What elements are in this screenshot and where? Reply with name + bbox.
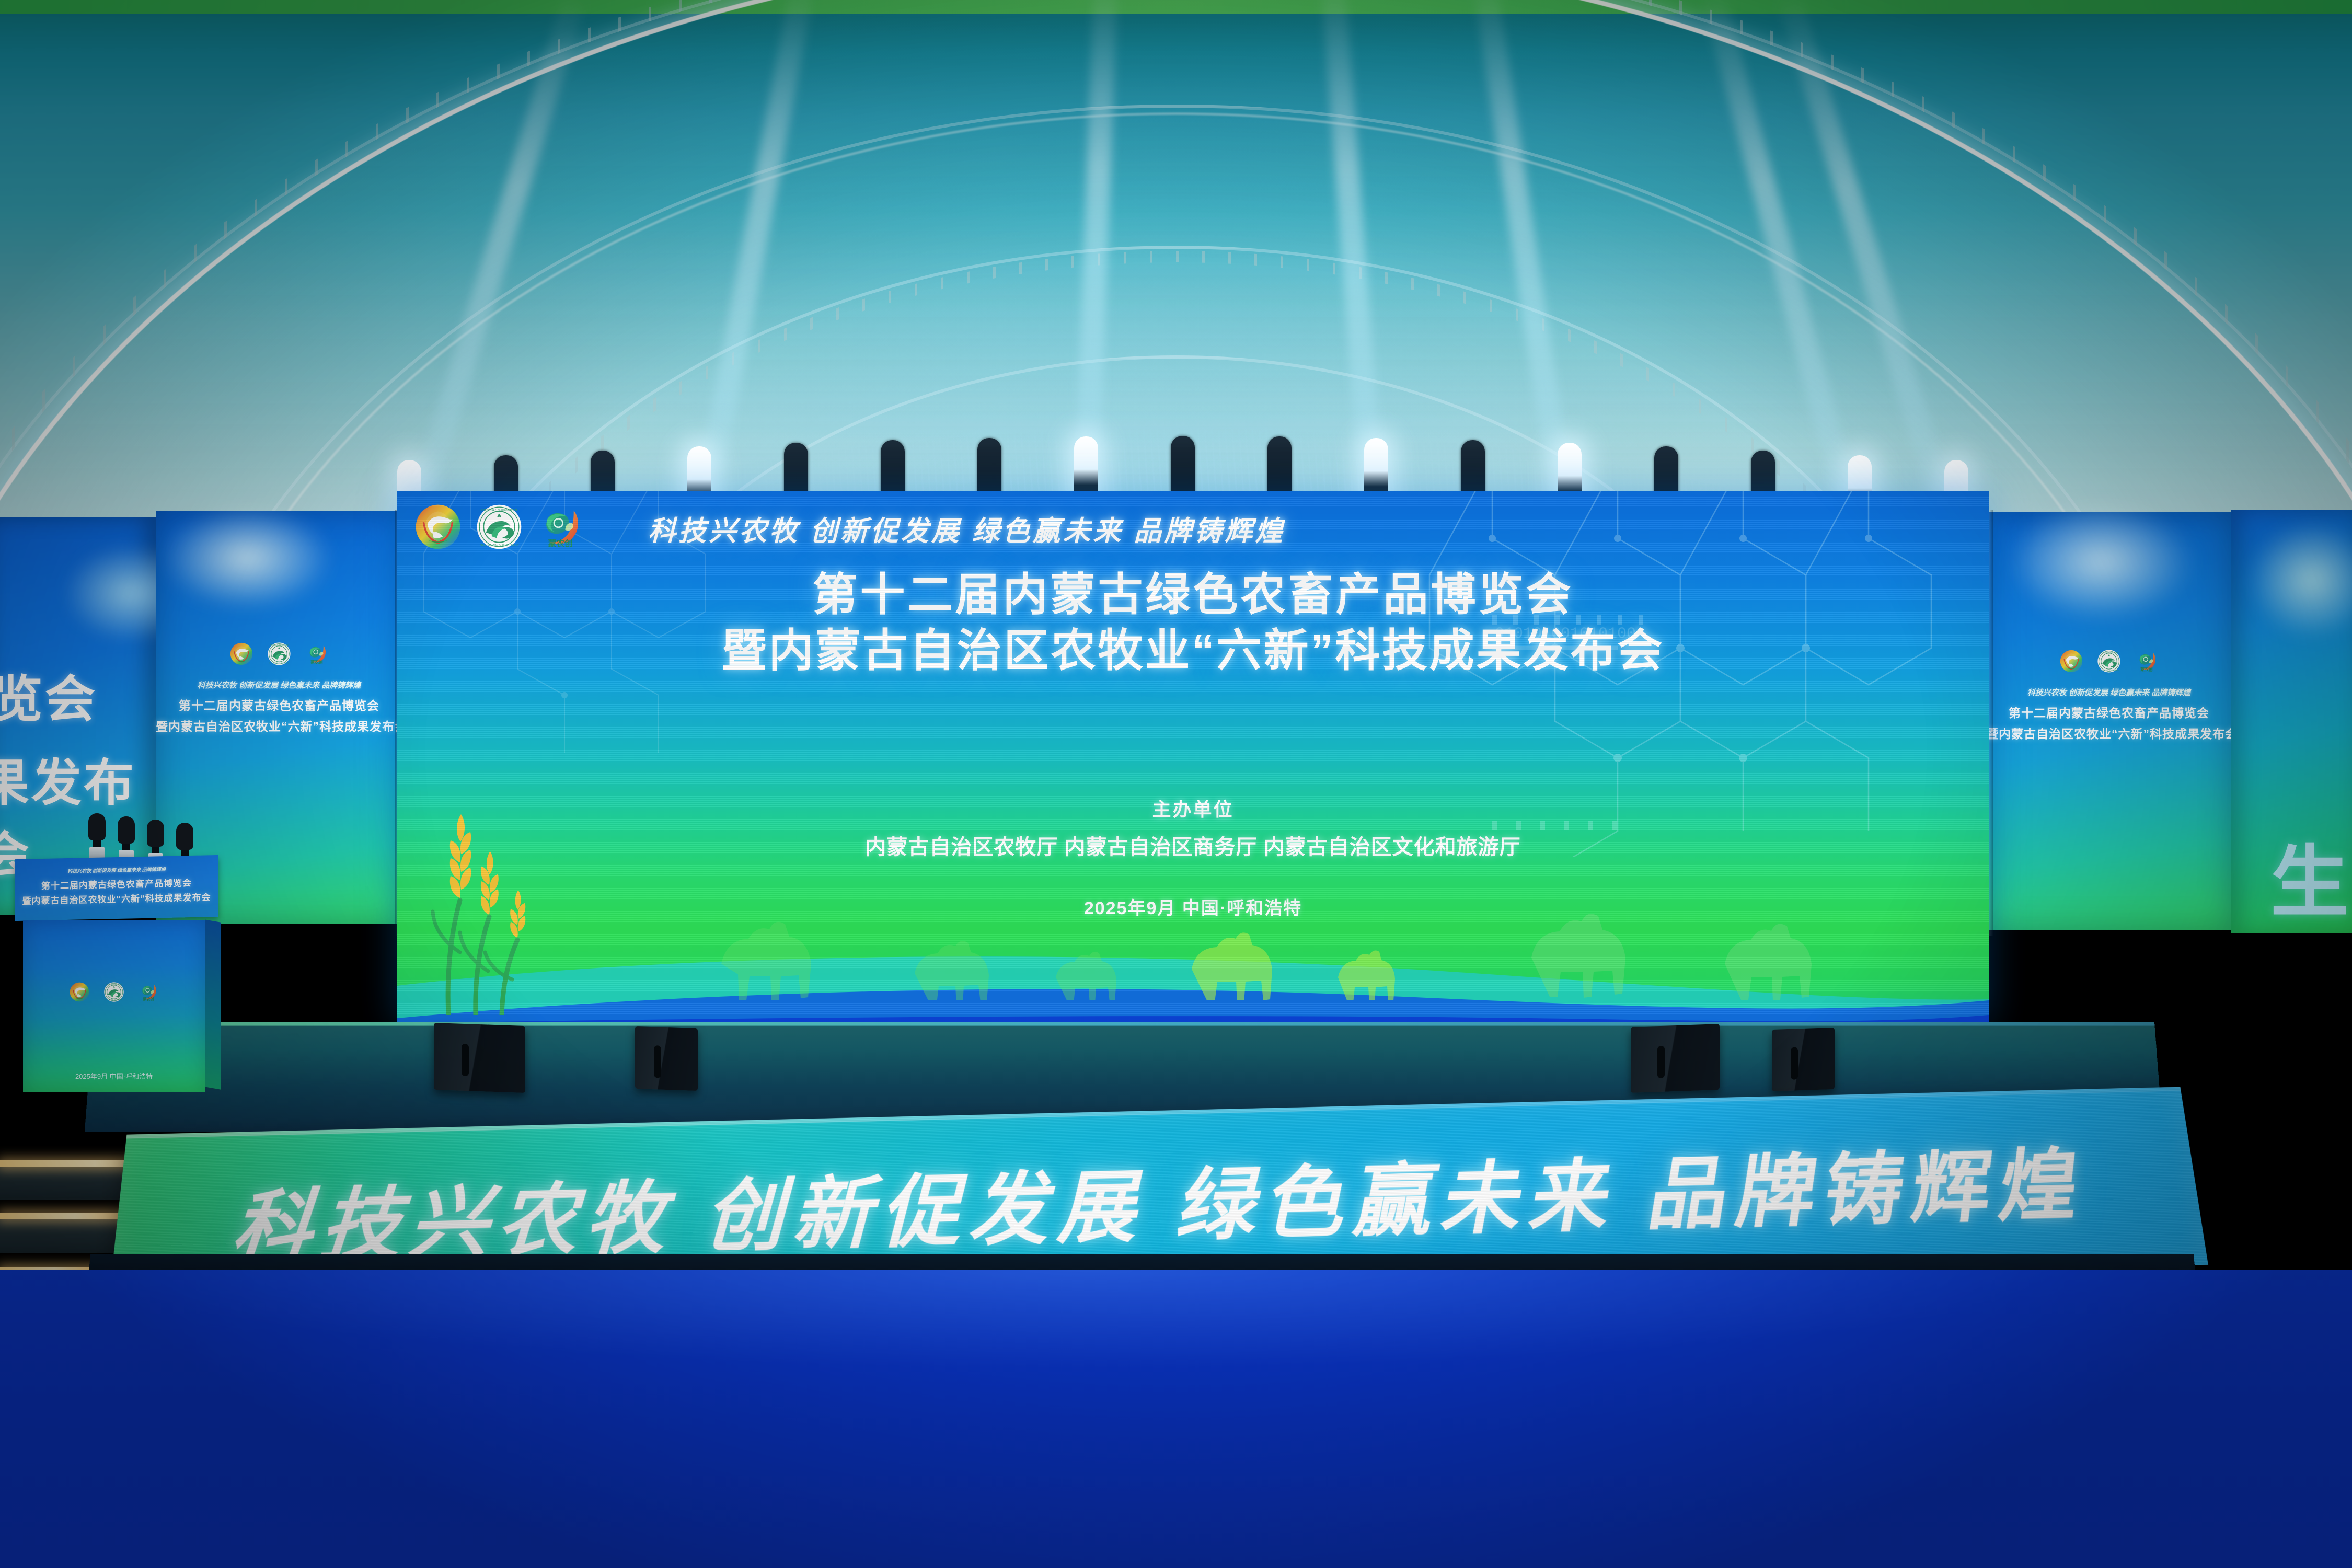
right-panel-mini-poster: 内蒙古农畜产品区域公用品牌 NEI MENG GU BRAND bbox=[1986, 649, 2232, 742]
far-left-text-line1: 览会 bbox=[0, 659, 97, 731]
stage-monitor-speaker bbox=[1772, 1028, 1835, 1091]
wall-light-glow bbox=[161, 506, 333, 610]
event-stage-photo: 览会 果发布会 bbox=[0, 0, 2352, 1568]
svg-text:蒙农创: 蒙农创 bbox=[548, 538, 573, 548]
podium-logo-row: 内蒙古农畜产品区域公用品牌 NEI MENG GU BRAND bbox=[23, 982, 205, 1002]
podium-top-face: 科技兴农牧 创新促发展 绿色赢未来 品牌铸辉煌 第十二届内蒙古绿色农畜产品博览会… bbox=[15, 855, 218, 921]
right-panel-slogan: 科技兴农牧 创新促发展 绿色赢未来 品牌铸辉煌 bbox=[1986, 687, 2232, 698]
svg-text:NEI MENG GU BRAND: NEI MENG GU BRAND bbox=[106, 999, 123, 1001]
podium-side-face bbox=[205, 919, 221, 1089]
main-screen-title-line1: 第十二届内蒙古绿色农畜产品博览会 bbox=[397, 569, 1989, 621]
svg-text:NEI MENG GU BRAND: NEI MENG GU BRAND bbox=[269, 662, 289, 664]
meng-nong-chuang-logo: 蒙农创 bbox=[536, 503, 584, 551]
organizer-list: 内蒙古自治区农牧厅 内蒙古自治区商务厅 内蒙古自治区文化和旅游厅 bbox=[397, 830, 1989, 860]
microphone-head bbox=[176, 823, 193, 850]
svg-text:蒙农创: 蒙农创 bbox=[2140, 666, 2153, 672]
stage-monitor-speaker bbox=[1631, 1024, 1720, 1093]
hall-ceiling bbox=[0, 0, 2352, 523]
wall-light-glow bbox=[2007, 502, 2195, 622]
stage-monitor-speaker bbox=[434, 1023, 525, 1093]
svg-text:内蒙古农畜产品区域公用品牌: 内蒙古农畜产品区域公用品牌 bbox=[270, 644, 289, 646]
left-panel-mini-poster: 内蒙古农畜产品区域公用品牌 NEI MENG GU BRAND bbox=[156, 642, 402, 734]
right-wall-poster-panel: 内蒙古农畜产品区域公用品牌 NEI MENG GU BRAND bbox=[1986, 512, 2232, 930]
svg-text:蒙农创: 蒙农创 bbox=[310, 659, 323, 664]
nei-meng-gu-brand-logo: 内蒙古农畜产品区域公用品牌 NEI MENG GU BRAND bbox=[476, 503, 523, 550]
podium-title-line2: 暨内蒙古自治区农牧业“六新”科技成果发布会 bbox=[15, 890, 218, 907]
right-panel-title-line1: 第十二届内蒙古绿色农畜产品博览会 bbox=[1986, 703, 2232, 721]
right-panel-logo-row: 内蒙古农畜产品区域公用品牌 NEI MENG GU BRAND bbox=[1986, 649, 2232, 673]
speaker-podium: 科技兴农牧 创新促发展 绿色赢未来 品牌铸辉煌 第十二届内蒙古绿色农畜产品博览会… bbox=[15, 857, 218, 1092]
green-agriculture-expo-logo bbox=[229, 642, 253, 666]
svg-text:NEI MENG GU BRAND: NEI MENG GU BRAND bbox=[480, 544, 518, 547]
podium-slogan: 科技兴农牧 创新促发展 绿色赢未来 品牌铸辉煌 bbox=[15, 864, 218, 875]
podium-title-line1: 第十二届内蒙古绿色农畜产品博览会 bbox=[15, 875, 218, 892]
podium-front-face: 内蒙古农畜产品区域公用品牌 NEI MENG GU BRAND bbox=[23, 920, 205, 1092]
meng-nong-chuang-logo: 蒙农创 bbox=[305, 642, 329, 666]
green-agriculture-expo-logo bbox=[414, 503, 462, 551]
microphone-head bbox=[118, 816, 135, 844]
far-right-character: 生 bbox=[2270, 843, 2349, 921]
far-right-wall-panel: 生 bbox=[2231, 510, 2352, 933]
meng-nong-chuang-logo: 蒙农创 bbox=[2135, 649, 2159, 673]
nei-meng-gu-brand-logo: 内蒙古农畜产品区域公用品牌 NEI MENG GU BRAND bbox=[103, 982, 124, 1002]
microphone-head bbox=[88, 813, 106, 840]
floor-light-sheen bbox=[0, 1270, 2352, 1375]
svg-text:内蒙古农畜产品区域公用品牌: 内蒙古农畜产品区域公用品牌 bbox=[2100, 651, 2118, 653]
nei-meng-gu-brand-logo: 内蒙古农畜产品区域公用品牌 NEI MENG GU BRAND bbox=[2097, 649, 2121, 673]
main-screen-title-block: 第十二届内蒙古绿色农畜产品博览会 暨内蒙古自治区农牧业“六新”科技成果发布会 bbox=[397, 569, 1989, 678]
podium-top-poster: 科技兴农牧 创新促发展 绿色赢未来 品牌铸辉煌 第十二届内蒙古绿色农畜产品博览会… bbox=[15, 864, 218, 907]
nei-meng-gu-brand-logo: 内蒙古农畜产品区域公用品牌 NEI MENG GU BRAND bbox=[267, 642, 291, 666]
stage-monitor-speaker bbox=[635, 1026, 698, 1091]
main-screen-logo-row: 内蒙古农畜产品区域公用品牌 NEI MENG GU BRAND bbox=[414, 503, 584, 551]
date-location-line: 2025年9月 中国·呼和浩特 bbox=[397, 894, 1989, 919]
main-screen-slogan: 科技兴农牧 创新促发展 绿色赢未来 品牌铸辉煌 bbox=[648, 509, 1526, 549]
svg-text:内蒙古农畜产品区域公用品牌: 内蒙古农畜产品区域公用品牌 bbox=[481, 508, 517, 512]
svg-text:NEI MENG GU BRAND: NEI MENG GU BRAND bbox=[2099, 669, 2119, 671]
wall-light-glow bbox=[2246, 520, 2352, 640]
left-panel-title-line2: 暨内蒙古自治区农牧业“六新”科技成果发布会 bbox=[156, 717, 402, 734]
left-panel-logo-row: 内蒙古农畜产品区域公用品牌 NEI MENG GU BRAND bbox=[156, 642, 402, 666]
left-panel-title-line1: 第十二届内蒙古绿色农畜产品博览会 bbox=[156, 696, 402, 713]
right-panel-title-line2: 暨内蒙古自治区农牧业“六新”科技成果发布会 bbox=[1986, 724, 2232, 742]
podium-date-location: 2025年9月 中国·呼和浩特 bbox=[23, 1071, 205, 1081]
organizer-label: 主办单位 bbox=[397, 794, 1989, 822]
main-screen-title-line2: 暨内蒙古自治区农牧业“六新”科技成果发布会 bbox=[397, 625, 1989, 677]
microphone-head bbox=[147, 820, 164, 847]
main-led-screen: 010101001010100 bbox=[397, 491, 1989, 1024]
meng-nong-chuang-logo: 蒙农创 bbox=[138, 982, 159, 1002]
blue-carpet-floor bbox=[0, 1270, 2352, 1568]
left-panel-slogan: 科技兴农牧 创新促发展 绿色赢未来 品牌铸辉煌 bbox=[156, 679, 402, 690]
green-agriculture-expo-logo bbox=[2059, 649, 2083, 673]
green-agriculture-expo-logo bbox=[69, 982, 90, 1002]
deck-edge-highlight bbox=[93, 1022, 2154, 1026]
